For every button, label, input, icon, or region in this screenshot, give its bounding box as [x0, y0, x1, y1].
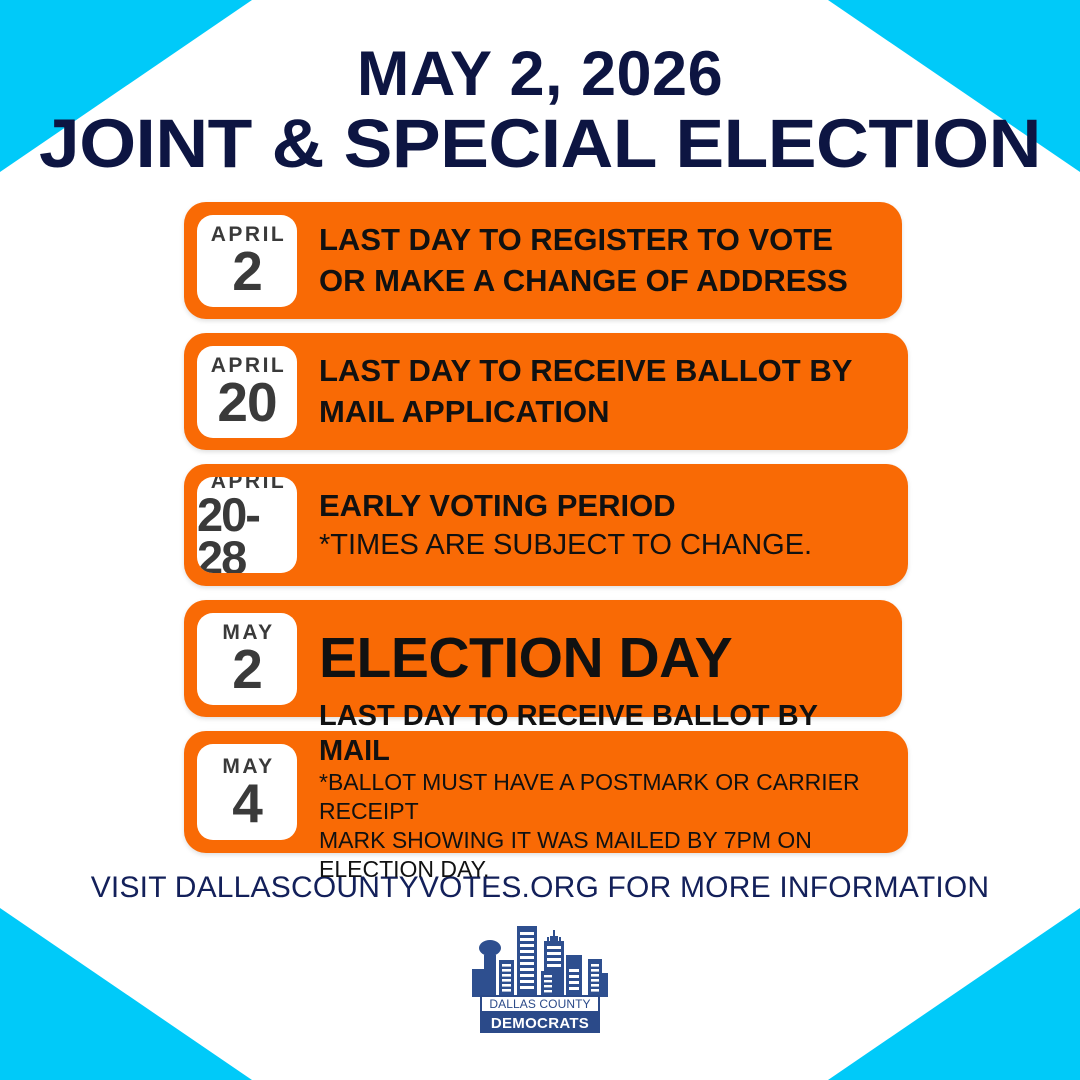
logo-plate-democrats: DEMOCRATS — [480, 1013, 600, 1033]
list-item-note-line2: MARK SHOWING IT WAS MAILED BY 7PM ON ELE… — [319, 826, 892, 884]
list-item-text: LAST DAY TO RECEIVE BALLOT BY MAIL *BALL… — [297, 699, 908, 884]
date-badge: APRIL 20-28 — [197, 477, 297, 573]
date-badge-day: 4 — [232, 778, 262, 829]
date-badge-day: 20 — [217, 377, 276, 428]
list-item-text: LAST DAY TO REGISTER TO VOTE OR MAKE A C… — [297, 220, 902, 302]
date-badge: MAY 4 — [197, 744, 297, 840]
list-item-text: LAST DAY TO RECEIVE BALLOT BY MAIL APPLI… — [297, 351, 908, 433]
date-badge-day: 20-28 — [197, 493, 297, 573]
list-item-title: EARLY VOTING PERIOD — [319, 486, 892, 527]
list-item-title: LAST DAY TO RECEIVE BALLOT BY — [319, 351, 892, 392]
list-item-note: *BALLOT MUST HAVE A POSTMARK OR CARRIER … — [319, 768, 892, 826]
logo-county-text: DALLAS COUNTY — [489, 997, 590, 1011]
logo-container: DALLAS COUNTY DEMOCRATS — [0, 921, 1080, 1033]
list-item-text: ELECTION DAY — [297, 629, 902, 689]
timeline-list: APRIL 2 LAST DAY TO REGISTER TO VOTE OR … — [0, 202, 1080, 867]
list-item[interactable]: APRIL 20 LAST DAY TO RECEIVE BALLOT BY M… — [184, 333, 908, 450]
list-item[interactable]: MAY 4 LAST DAY TO RECEIVE BALLOT BY MAIL… — [184, 731, 908, 853]
poster-canvas: MAY 2, 2026 JOINT & SPECIAL ELECTION APR… — [0, 0, 1080, 1080]
dallas-county-democrats-logo: DALLAS COUNTY DEMOCRATS — [470, 921, 610, 1033]
date-badge: APRIL 20 — [197, 346, 297, 438]
date-badge: MAY 2 — [197, 613, 297, 705]
list-item-note: *TIMES ARE SUBJECT TO CHANGE. — [319, 527, 892, 563]
page-title: MAY 2, 2026 JOINT & SPECIAL ELECTION — [0, 0, 1080, 178]
list-item[interactable]: APRIL 20-28 EARLY VOTING PERIOD *TIMES A… — [184, 464, 908, 586]
logo-democrats-text: DEMOCRATS — [491, 1015, 589, 1032]
title-election-line: JOINT & SPECIAL ELECTION — [0, 111, 1080, 178]
list-item-title-line2: OR MAKE A CHANGE OF ADDRESS — [319, 261, 886, 302]
list-item-title: ELECTION DAY — [319, 629, 886, 689]
date-badge: APRIL 2 — [197, 215, 297, 307]
date-badge-day: 2 — [232, 644, 262, 695]
title-date-line: MAY 2, 2026 — [0, 44, 1080, 105]
list-item[interactable]: APRIL 2 LAST DAY TO REGISTER TO VOTE OR … — [184, 202, 902, 319]
list-item-title-line2: MAIL APPLICATION — [319, 392, 892, 433]
logo-plate-county: DALLAS COUNTY — [480, 995, 600, 1013]
date-badge-day: 2 — [232, 246, 262, 297]
list-item-title: LAST DAY TO REGISTER TO VOTE — [319, 220, 886, 261]
poster-content: MAY 2, 2026 JOINT & SPECIAL ELECTION APR… — [0, 0, 1080, 1080]
list-item-text: EARLY VOTING PERIOD *TIMES ARE SUBJECT T… — [297, 486, 908, 563]
list-item-title: LAST DAY TO RECEIVE BALLOT BY MAIL — [319, 699, 892, 767]
